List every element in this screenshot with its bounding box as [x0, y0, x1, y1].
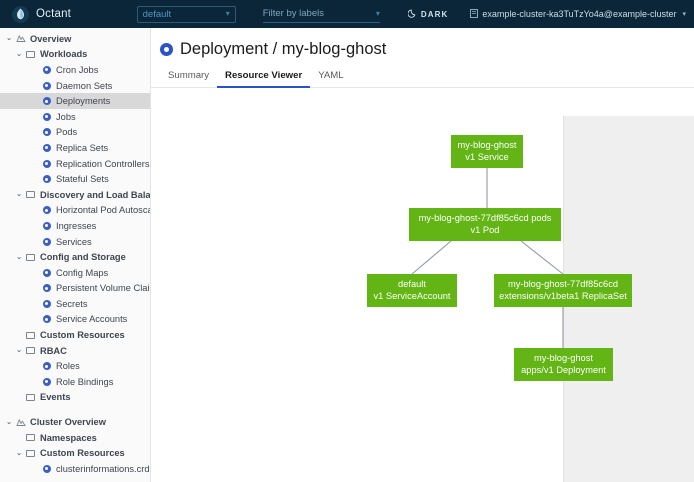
- sidebar-item-label: Workloads: [37, 49, 87, 59]
- sidebar-item-config-and-storage[interactable]: ⌄Config and Storage: [0, 249, 150, 265]
- resource-viewer-panel: my-blog-ghostv1 Servicemy-blog-ghost-77d…: [151, 116, 694, 482]
- cluster-label: example-cluster-ka3TuTzYo4a@example-clus…: [482, 9, 676, 19]
- sidebar-item-label: Jobs: [53, 112, 76, 122]
- sidebar-item-label: Daemon Sets: [53, 81, 112, 91]
- sidebar-item-label: Roles: [53, 361, 80, 371]
- graph-node-title: my-blog-ghost-77df85c6cd pods: [419, 213, 552, 225]
- sidebar-item-label: Namespaces: [37, 433, 97, 443]
- namespace-value: default: [143, 9, 172, 20]
- sidebar-item-label: Overview: [27, 34, 71, 44]
- chevron-down-icon[interactable]: ⌄: [14, 51, 24, 58]
- k8s-icon: [40, 315, 53, 323]
- graph-edges: [151, 116, 451, 266]
- graph-node-pod[interactable]: my-blog-ghost-77df85c6cd podsv1 Pod: [409, 208, 561, 241]
- chevron-down-icon[interactable]: ⌄: [14, 347, 24, 354]
- namespace-select[interactable]: default ▾: [137, 6, 236, 23]
- sidebar-item-label: Custom Resources: [37, 448, 125, 458]
- k8s-icon: [40, 97, 53, 105]
- sidebar-item-label: Replication Controllers: [53, 159, 150, 169]
- tab-resource-viewer[interactable]: Resource Viewer: [217, 70, 310, 88]
- sidebar-item-role-bindings[interactable]: Role Bindings: [0, 374, 150, 390]
- brand-name: Octant: [36, 8, 71, 20]
- chevron-down-icon[interactable]: ⌄: [14, 191, 24, 198]
- sidebar-item-roles[interactable]: Roles: [0, 358, 150, 374]
- sidebar-item-label: Ingresses: [53, 221, 96, 231]
- app-header: Octant default ▾ Filter by labels ▾ DARK: [0, 0, 694, 28]
- chevron-down-icon[interactable]: ⌄: [4, 35, 14, 42]
- sidebar-item-label: Discovery and Load Balancing: [37, 190, 151, 200]
- sidebar-item-cron-jobs[interactable]: Cron Jobs: [0, 62, 150, 78]
- sidebar-item-service-accounts[interactable]: Service Accounts: [0, 312, 150, 328]
- sidebar-item-label: Custom Resources: [37, 330, 125, 340]
- k8s-icon: [40, 300, 53, 308]
- graph-node-title: my-blog-ghost-77df85c6cd: [508, 279, 618, 291]
- sidebar-item-daemon-sets[interactable]: Daemon Sets: [0, 78, 150, 94]
- graph-node-kind: v1 ServiceAccount: [374, 291, 451, 303]
- graph-edge-pod-to-sa: [412, 241, 451, 274]
- sidebar-item-label: Config Maps: [53, 268, 108, 278]
- k8s-icon: [40, 82, 53, 90]
- sidebar-item-namespaces[interactable]: Namespaces: [0, 430, 150, 446]
- sidebar-item-persistent-volume-claims[interactable]: Persistent Volume Claims: [0, 281, 150, 297]
- chevron-down-icon[interactable]: ⌄: [14, 254, 24, 261]
- overview-icon: [14, 34, 27, 43]
- sidebar-item-pods[interactable]: Pods: [0, 125, 150, 141]
- page-title: Deployment / my-blog-ghost: [160, 40, 694, 59]
- sidebar-item-jobs[interactable]: Jobs: [0, 109, 150, 125]
- sidebar-item-label: RBAC: [37, 346, 67, 356]
- sidebar-item-label: Horizontal Pod Autoscalers: [53, 205, 151, 215]
- k8s-icon: [40, 362, 53, 370]
- k8s-icon: [40, 222, 53, 230]
- sidebar-spacer: [0, 405, 150, 414]
- graph-node-svc[interactable]: my-blog-ghostv1 Service: [451, 135, 523, 168]
- page-head: Deployment / my-blog-ghost: [151, 28, 694, 59]
- cluster-icon: [470, 9, 478, 20]
- sidebar-item-events[interactable]: Events: [0, 390, 150, 406]
- k8s-icon: [40, 378, 53, 386]
- overview-icon: [14, 418, 27, 427]
- sidebar-item-label: Services: [53, 237, 92, 247]
- page-title-text: Deployment / my-blog-ghost: [180, 40, 386, 59]
- k8s-icon: [40, 284, 53, 292]
- resource-graph[interactable]: my-blog-ghostv1 Servicemy-blog-ghost-77d…: [151, 116, 694, 482]
- sidebar-item-label: Cluster Overview: [27, 417, 106, 427]
- graph-node-title: my-blog-ghost: [534, 353, 593, 365]
- sidebar-item-secrets[interactable]: Secrets: [0, 296, 150, 312]
- sidebar-item-label: Replica Sets: [53, 143, 108, 153]
- sidebar-item-label: Cron Jobs: [53, 65, 98, 75]
- k8s-icon: [40, 144, 53, 152]
- k8s-icon: [40, 269, 53, 277]
- sidebar-item-services[interactable]: Services: [0, 234, 150, 250]
- sidebar-item-clusterinformations-crd-projec[interactable]: clusterinformations.crd.projec: [0, 461, 150, 477]
- folder-icon: [24, 394, 37, 401]
- sidebar-item-label: Secrets: [53, 299, 88, 309]
- sidebar-item-replica-sets[interactable]: Replica Sets: [0, 140, 150, 156]
- octant-app: Octant default ▾ Filter by labels ▾ DARK: [0, 0, 694, 482]
- graph-node-kind: extensions/v1beta1 ReplicaSet: [499, 291, 627, 303]
- sidebar-item-label: Config and Storage: [37, 252, 126, 262]
- graph-edge-pod-to-replicaset: [521, 241, 563, 274]
- sidebar-item-custom-resources[interactable]: ⌄Custom Resources: [0, 445, 150, 461]
- label-filter-placeholder: Filter by labels: [263, 8, 324, 19]
- folder-icon: [24, 191, 37, 198]
- folder-icon: [24, 332, 37, 339]
- k8s-icon: [40, 160, 53, 168]
- tab-summary[interactable]: Summary: [160, 70, 217, 88]
- sidebar-item-ingresses[interactable]: Ingresses: [0, 218, 150, 234]
- folder-icon: [24, 51, 37, 58]
- graph-node-kind: v1 Pod: [471, 225, 500, 237]
- chevron-down-icon: ▾: [682, 10, 686, 18]
- theme-toggle-label: DARK: [421, 10, 449, 19]
- cluster-selector[interactable]: example-cluster-ka3TuTzYo4a@example-clus…: [470, 9, 686, 20]
- sidebar-item-workloads[interactable]: ⌄Workloads: [0, 47, 150, 63]
- chevron-down-icon: ▾: [226, 10, 230, 18]
- moon-icon: [408, 9, 417, 20]
- sidebar-item-replication-controllers[interactable]: Replication Controllers: [0, 156, 150, 172]
- folder-icon: [24, 434, 37, 441]
- folder-icon: [24, 254, 37, 261]
- chevron-down-icon[interactable]: ⌄: [4, 419, 14, 426]
- octant-logo-icon: [12, 6, 29, 23]
- sidebar-item-horizontal-pod-autoscalers[interactable]: Horizontal Pod Autoscalers: [0, 203, 150, 219]
- label-filter[interactable]: Filter by labels ▾: [263, 5, 380, 23]
- graph-node-replicaset[interactable]: my-blog-ghost-77df85c6cdextensions/v1bet…: [494, 274, 632, 307]
- sidebar-item-label: Events: [37, 392, 71, 402]
- sidebar-item-label: Service Accounts: [53, 314, 127, 324]
- sidebar-item-config-maps[interactable]: Config Maps: [0, 265, 150, 281]
- sidebar-item-cluster-overview[interactable]: ⌄Cluster Overview: [0, 414, 150, 430]
- graph-node-kind: apps/v1 Deployment: [521, 365, 606, 377]
- sidebar-item-discovery-and-load-balancing[interactable]: ⌄Discovery and Load Balancing: [0, 187, 150, 203]
- graph-node-deploy[interactable]: my-blog-ghostapps/v1 Deployment: [514, 348, 613, 381]
- graph-node-title: my-blog-ghost: [458, 140, 517, 152]
- graph-node-title: default: [398, 279, 426, 291]
- main-content: Deployment / my-blog-ghost SummaryResour…: [151, 28, 694, 482]
- theme-toggle[interactable]: DARK: [408, 9, 449, 20]
- graph-node-sa[interactable]: defaultv1 ServiceAccount: [367, 274, 457, 307]
- k8s-icon: [40, 238, 53, 246]
- sidebar-item-label: Deployments: [53, 96, 110, 106]
- k8s-icon: [40, 175, 53, 183]
- sidebar-item-custom-resources[interactable]: Custom Resources: [0, 327, 150, 343]
- folder-icon: [24, 347, 37, 354]
- k8s-icon: [40, 206, 53, 214]
- k8s-icon: [40, 465, 53, 473]
- deployment-icon: [160, 43, 173, 56]
- sidebar-item-deployments[interactable]: Deployments: [0, 93, 150, 109]
- sidebar-item-label: Role Bindings: [53, 377, 113, 387]
- tab-label: Resource Viewer: [225, 70, 302, 81]
- graph-node-kind: v1 Service: [465, 152, 508, 164]
- tab-label: Summary: [168, 70, 209, 81]
- k8s-icon: [40, 66, 53, 74]
- brand[interactable]: Octant: [8, 6, 124, 23]
- chevron-down-icon: ▾: [376, 9, 380, 18]
- sidebar-item-stateful-sets[interactable]: Stateful Sets: [0, 171, 150, 187]
- tab-label: YAML: [318, 70, 343, 81]
- k8s-icon: [40, 128, 53, 136]
- sidebar-item-label: Persistent Volume Claims: [53, 283, 151, 293]
- tab-yaml[interactable]: YAML: [310, 70, 351, 88]
- body: ⌄Overview⌄WorkloadsCron JobsDaemon SetsD…: [0, 28, 694, 482]
- tab-bar[interactable]: SummaryResource ViewerYAML: [151, 70, 694, 88]
- k8s-icon: [40, 113, 53, 121]
- folder-icon: [24, 450, 37, 457]
- sidebar-item-overview[interactable]: ⌄Overview: [0, 31, 150, 47]
- sidebar[interactable]: ⌄Overview⌄WorkloadsCron JobsDaemon SetsD…: [0, 28, 151, 482]
- chevron-down-icon[interactable]: ⌄: [14, 450, 24, 457]
- sidebar-item-label: clusterinformations.crd.projec: [53, 464, 151, 474]
- sidebar-item-rbac[interactable]: ⌄RBAC: [0, 343, 150, 359]
- sidebar-item-label: Stateful Sets: [53, 174, 109, 184]
- sidebar-item-label: Pods: [53, 127, 77, 137]
